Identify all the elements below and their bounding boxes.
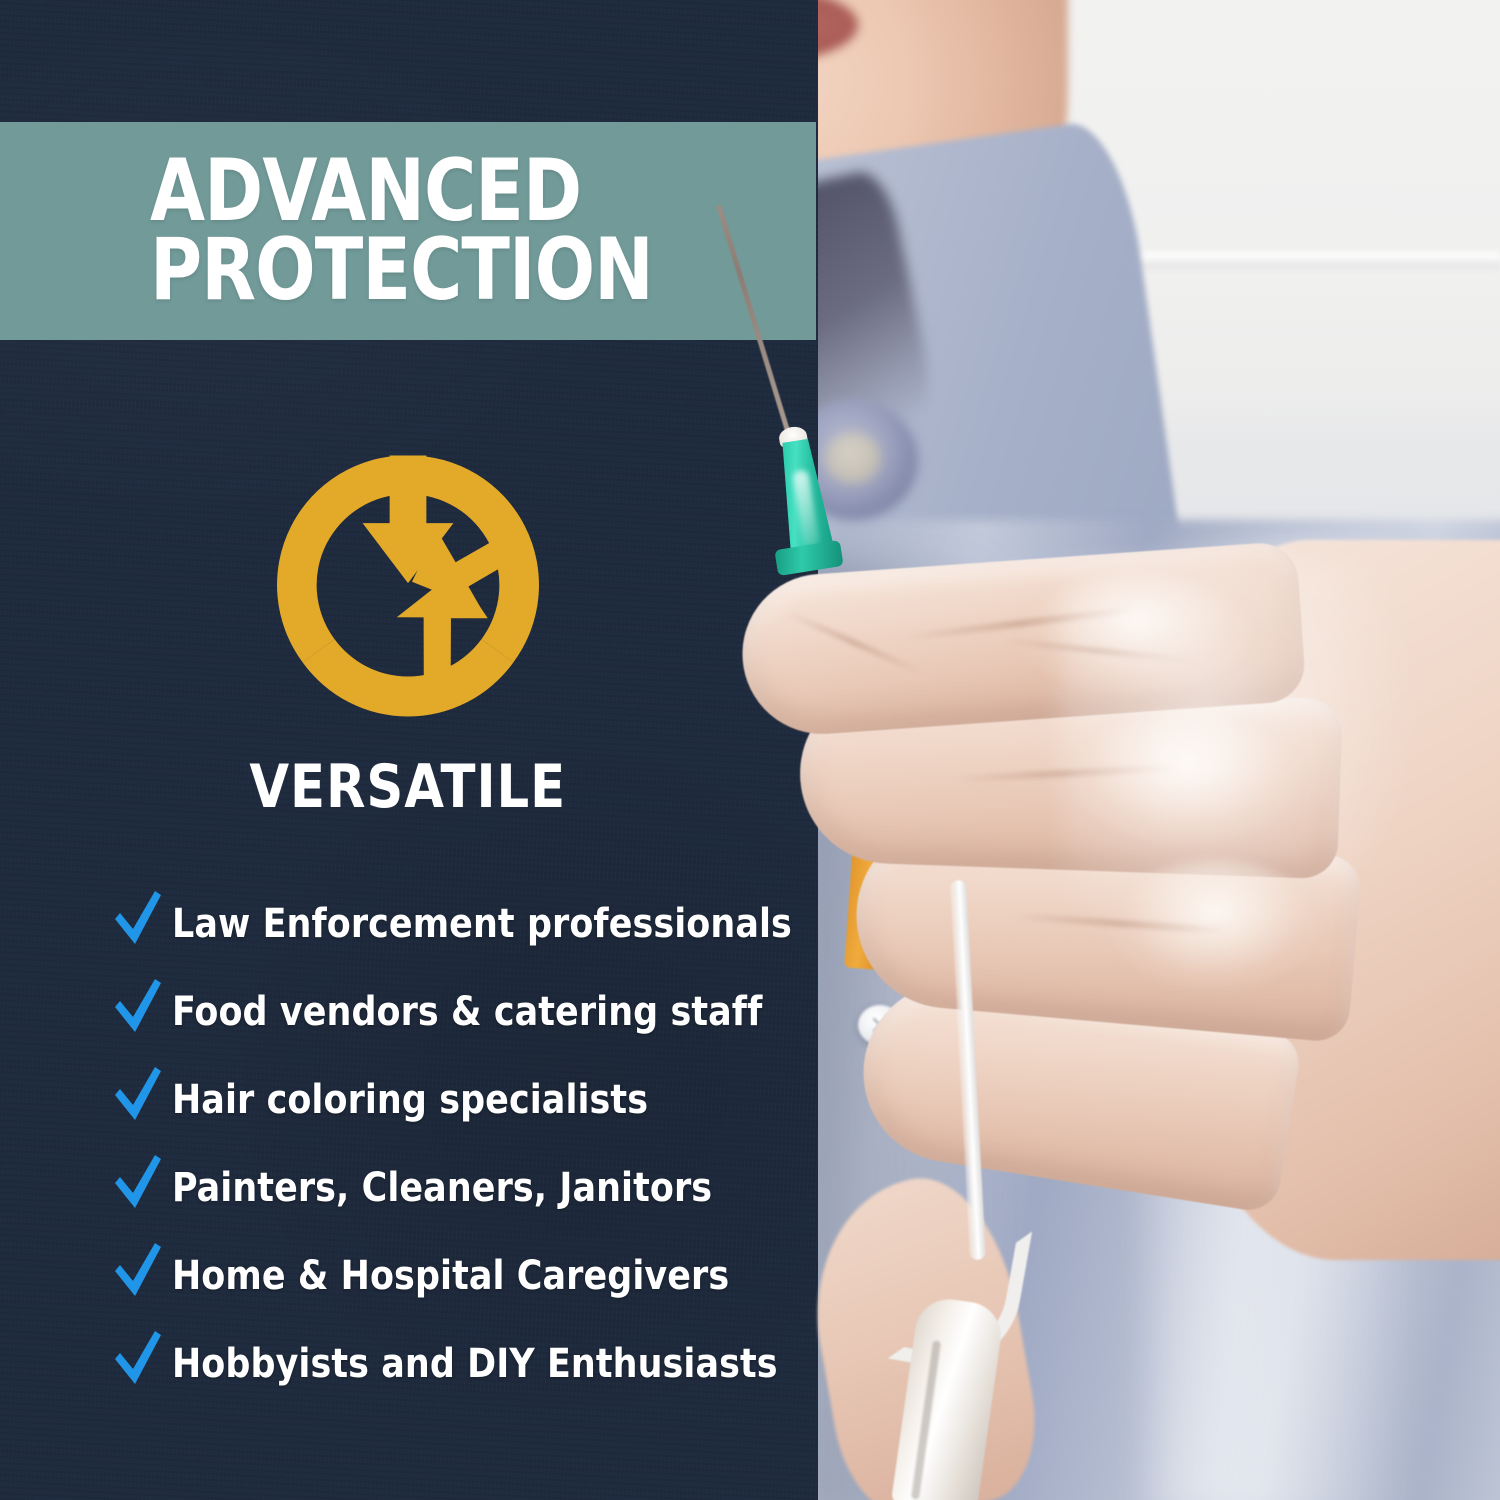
list-item-label: Home & Hospital Caregivers (172, 1253, 729, 1299)
shirt-button-lower (864, 1348, 914, 1392)
product-photo (818, 0, 1500, 1500)
list-item: Home & Hospital Caregivers (112, 1232, 812, 1320)
headline-banner: ADVANCED PROTECTION (0, 122, 816, 340)
list-item-label: Food vendors & catering staff (172, 989, 762, 1035)
info-panel: ADVANCED PROTECTION (0, 0, 818, 1500)
list-item: Hobbyists and DIY Enthusiasts (112, 1320, 812, 1408)
list-item: Law Enforcement professionals (112, 880, 812, 968)
list-item-label: Law Enforcement professionals (172, 901, 792, 947)
check-icon (112, 1241, 164, 1301)
shirt-highlight (1148, 540, 1398, 1500)
versatile-circular-arrows-icon (263, 440, 553, 730)
headline-line-2: PROTECTION (150, 231, 763, 310)
shirt-button-upper (858, 1005, 902, 1045)
list-item-label: Hobbyists and DIY Enthusiasts (172, 1341, 778, 1387)
benefit-list: Law Enforcement professionals Food vendo… (112, 880, 812, 1408)
versatile-label: VERSATILE (250, 752, 567, 822)
versatile-feature-block: VERSATILE (0, 440, 816, 822)
product-feature-poster: ADVANCED PROTECTION (0, 0, 1500, 1500)
check-icon (112, 1329, 164, 1389)
check-icon (112, 889, 164, 949)
check-icon (112, 1065, 164, 1125)
list-item-label: Hair coloring specialists (172, 1077, 648, 1123)
list-item: Hair coloring specialists (112, 1056, 812, 1144)
list-item-label: Painters, Cleaners, Janitors (172, 1165, 712, 1211)
check-icon (112, 977, 164, 1037)
list-item: Food vendors & catering staff (112, 968, 812, 1056)
check-icon (112, 1153, 164, 1213)
list-item: Painters, Cleaners, Janitors (112, 1144, 812, 1232)
